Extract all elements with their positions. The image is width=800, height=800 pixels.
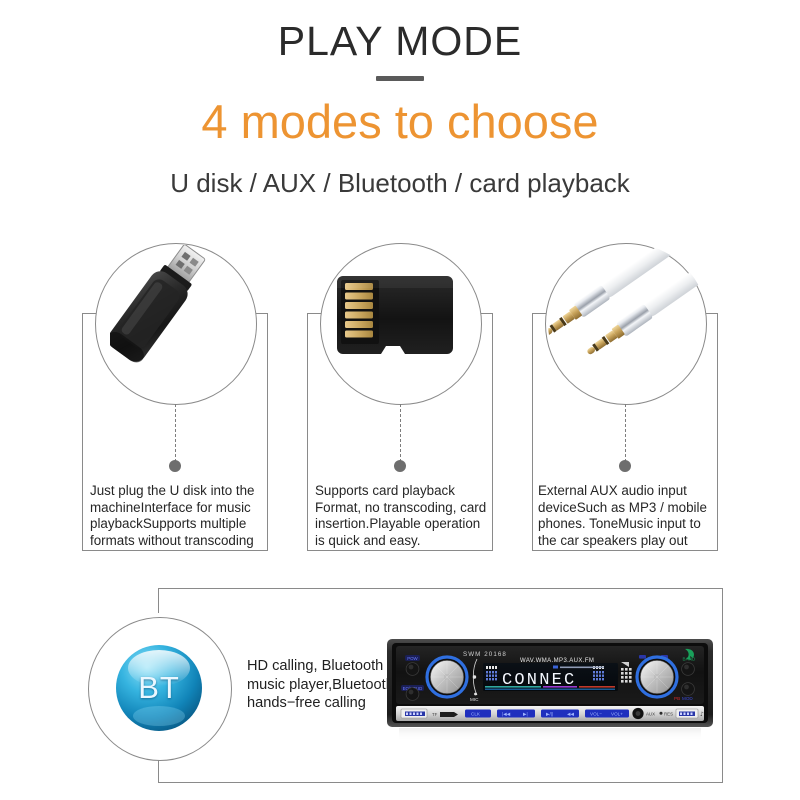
svg-text:VOL−: VOL− [590, 712, 602, 717]
svg-text:MOD: MOD [682, 696, 693, 701]
modes-summary-line: U disk / AUX / Bluetooth / card playback [0, 168, 800, 199]
connector-dot [619, 460, 631, 472]
connector-line [175, 404, 176, 462]
infographic-canvas: PLAY MODE 4 modes to choose U disk / AUX… [0, 0, 800, 800]
title-divider [376, 76, 424, 81]
bluetooth-badge-icon: BT [115, 644, 203, 732]
svg-text:PB: PB [674, 696, 680, 701]
svg-text:AUX: AUX [646, 711, 655, 716]
radio-formats-label: WAV.WMA.MP3.AUX.FM [0, 0, 1, 1]
aux-cable-icon [548, 243, 708, 403]
mode-caption-sdcard: Supports card playback Format, no transc… [315, 483, 491, 549]
svg-text:♪: ♪ [700, 711, 704, 718]
svg-text:VOL+: VOL+ [611, 712, 623, 717]
svg-text:MIC: MIC [470, 697, 479, 702]
svg-text:BAND: BAND [683, 657, 696, 662]
svg-text:|◀◀: |◀◀ [502, 712, 511, 717]
radio-display-value: CONNEC [0, 0, 1, 1]
mode-caption-aux: External AUX audio input deviceSuch as M… [538, 483, 714, 549]
car-stereo-unit: SWM 20168 WAV.WMA.MP3.AUX.FM POW EQ/LOUD [385, 637, 715, 742]
connector-dot [394, 460, 406, 472]
svg-text:POW: POW [407, 656, 418, 661]
svg-text:▶|: ▶| [523, 712, 528, 717]
connector-line [400, 404, 401, 462]
svg-text:CLK: CLK [471, 712, 481, 717]
bluetooth-caption: HD calling, Bluetooth music player,Bluet… [247, 657, 397, 713]
microsd-card-icon [335, 270, 465, 380]
bluetooth-badge-label: BT [115, 644, 203, 732]
svg-text:SWM 20168: SWM 20168 [463, 651, 507, 658]
svg-text:▶/||: ▶/|| [546, 712, 553, 717]
svg-text:◀◀: ◀◀ [567, 712, 575, 717]
page-subtitle: 4 modes to choose [0, 94, 800, 149]
connector-line [625, 404, 626, 462]
mode-caption-usb: Just plug the U disk into the machineInt… [90, 483, 266, 549]
svg-text:TF: TF [432, 712, 438, 717]
connector-dot [169, 460, 181, 472]
radio-model-label: SWM 20168 [0, 0, 1, 1]
page-title: PLAY MODE [0, 18, 800, 65]
usb-flash-drive-icon [110, 245, 240, 395]
svg-text:RES: RES [664, 711, 673, 716]
